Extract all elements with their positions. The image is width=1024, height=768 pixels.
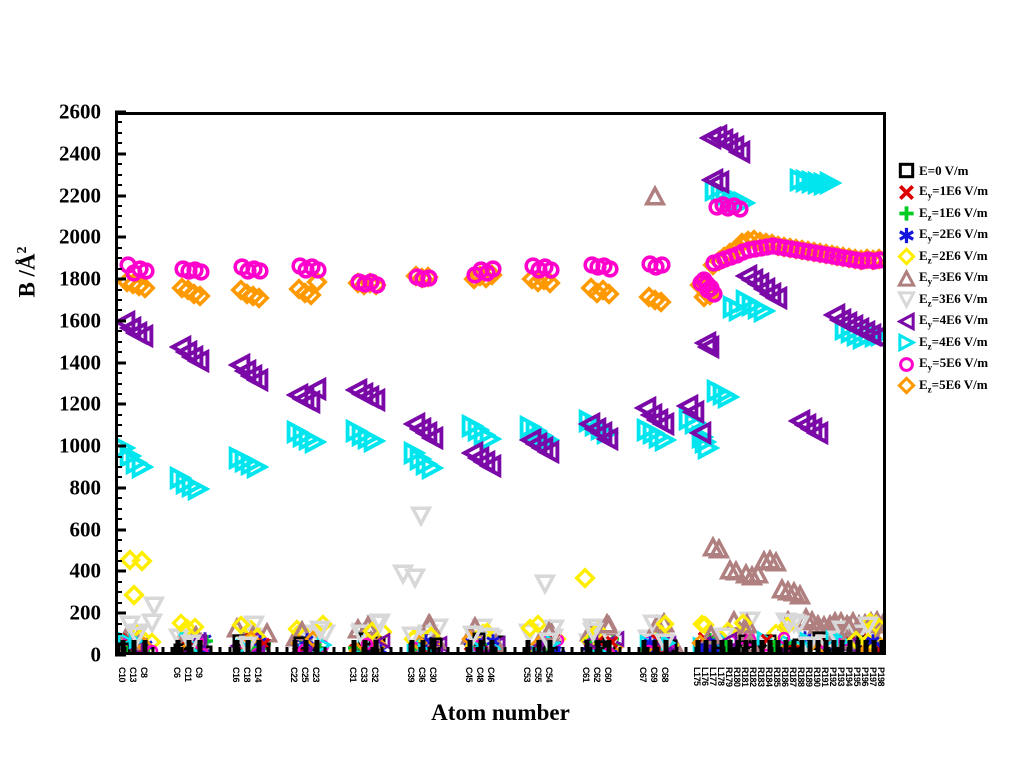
x-tick-minor (865, 647, 868, 655)
x-tick-minor (371, 647, 374, 655)
x-tick-minor (561, 647, 564, 655)
legend-marker-asterisk-icon (893, 226, 919, 245)
x-tick-minor (418, 647, 421, 655)
x-tick-minor (761, 647, 764, 655)
y-tick-minor (115, 560, 122, 562)
data-point (703, 283, 725, 305)
data-point (655, 614, 675, 634)
x-tick-minor (571, 647, 574, 655)
data-point (697, 335, 721, 359)
legend-marker-triangle-down-icon (893, 290, 919, 309)
data-point (421, 426, 445, 450)
y-tick-minor (115, 215, 122, 217)
x-tick-label: P198 (876, 667, 886, 686)
x-tick-minor (599, 647, 602, 655)
x-tick-label: C36 (417, 667, 427, 682)
legend-label: Ez=3E6 V/m (919, 291, 988, 309)
x-tick-minor (190, 647, 193, 655)
data-marker-layer (118, 115, 883, 652)
legend-label: E=0 V/m (919, 163, 968, 179)
data-point (130, 455, 154, 479)
x-tick-minor (827, 647, 830, 655)
data-point (689, 421, 713, 445)
legend-item-9[interactable]: Ey=5E6 V/m (893, 354, 1021, 376)
data-point (728, 140, 752, 164)
x-tick-major (880, 640, 885, 655)
x-tick-label: C18 (242, 667, 252, 682)
y-tick-label: 2400 (0, 141, 101, 166)
x-tick-minor (590, 647, 593, 655)
legend-label: Ez=5E6 V/m (919, 377, 988, 395)
y-tick-major (115, 152, 126, 155)
x-tick-minor (171, 647, 174, 655)
y-tick-minor (115, 581, 122, 583)
x-tick-label: C22 (289, 667, 299, 682)
data-point (307, 259, 329, 281)
data-point (682, 400, 706, 424)
y-tick-minor (115, 476, 122, 478)
x-tick-minor (637, 647, 640, 655)
data-point (598, 283, 620, 305)
x-tick-minor (276, 647, 279, 655)
data-point (599, 258, 621, 280)
legend-marker-cross-icon (893, 183, 919, 202)
y-tick-minor (115, 591, 122, 593)
data-point (131, 550, 153, 572)
x-tick-minor (228, 647, 231, 655)
x-tick-minor (266, 647, 269, 655)
y-tick-minor (115, 518, 122, 520)
data-point (304, 377, 328, 401)
data-point (418, 267, 440, 289)
x-tick-minor (628, 647, 631, 655)
y-tick-label: 1600 (0, 308, 101, 333)
x-tick-minor (513, 647, 516, 655)
x-tick-minor (152, 647, 155, 655)
x-tick-minor (323, 647, 326, 655)
y-tick-minor (115, 132, 122, 134)
legend-label: Ez=2E6 V/m (919, 248, 988, 266)
x-tick-minor (656, 647, 659, 655)
data-point (652, 412, 676, 436)
x-tick-minor (875, 647, 878, 655)
y-tick-minor (115, 247, 122, 249)
data-point (707, 170, 731, 194)
x-tick-minor (694, 647, 697, 655)
x-tick-minor (352, 647, 355, 655)
x-tick-minor (409, 647, 412, 655)
data-point (644, 185, 666, 207)
x-tick-minor (485, 647, 488, 655)
x-tick-label: C16 (231, 667, 241, 682)
x-tick-minor (247, 647, 250, 655)
data-point (187, 349, 211, 373)
x-tick-label: C10 (117, 667, 127, 682)
x-tick-minor (723, 647, 726, 655)
y-tick-minor (115, 508, 122, 510)
x-tick-label: C39 (406, 667, 416, 682)
legend-label: Ey=3E6 V/m (919, 269, 988, 287)
data-point (574, 567, 596, 589)
x-tick-minor (789, 647, 792, 655)
legend-label: Ey=4E6 V/m (919, 312, 988, 330)
y-tick-minor (115, 497, 122, 499)
x-tick-label: C48 (475, 667, 485, 682)
y-tick-label: 400 (0, 559, 101, 584)
x-tick-minor (675, 647, 678, 655)
x-tick-label: C8 (139, 667, 149, 678)
x-tick-major (831, 640, 836, 655)
y-tick-minor (115, 372, 122, 374)
legend-item-5[interactable]: Ey=3E6 V/m (893, 268, 1021, 290)
x-tick-major (489, 640, 494, 655)
x-tick-major (839, 640, 844, 655)
x-tick-label: C13 (128, 667, 138, 682)
legend-label: Ey=5E6 V/m (919, 355, 988, 373)
y-tick-minor (115, 351, 122, 353)
x-tick-minor (285, 647, 288, 655)
y-tick-minor (115, 205, 122, 207)
y-tick-minor (115, 184, 122, 186)
legend-item-3[interactable]: Ey=2E6 V/m (893, 225, 1021, 247)
data-point (245, 455, 269, 479)
data-point (537, 440, 561, 464)
x-tick-minor (713, 647, 716, 655)
x-tick-minor (751, 647, 754, 655)
x-tick-major (735, 640, 740, 655)
legend-label: Ey=1E6 V/m (919, 183, 988, 201)
x-tick-minor (856, 647, 859, 655)
data-point (692, 614, 712, 634)
legend-marker-plus-icon (893, 204, 919, 223)
x-tick-label: C67 (638, 667, 648, 682)
data-point (482, 258, 504, 280)
x-tick-minor (142, 647, 145, 655)
y-tick-label: 2000 (0, 225, 101, 250)
y-tick-major (115, 319, 126, 322)
x-tick-minor (219, 647, 222, 655)
data-point (362, 429, 386, 453)
x-tick-minor (361, 647, 364, 655)
x-tick-major (783, 640, 788, 655)
data-point (765, 551, 787, 573)
legend-item-2[interactable]: Ez=1E6 V/m (893, 203, 1021, 225)
x-tick-major (421, 640, 426, 655)
chart-root: B /Å2 0200400600800100012001400160018002… (0, 0, 1024, 768)
x-tick-minor (732, 647, 735, 655)
legend-label: Ez=1E6 V/m (919, 205, 988, 223)
y-tick-minor (115, 435, 122, 437)
x-tick-minor (466, 647, 469, 655)
legend-marker-diamond-icon (893, 376, 919, 395)
legend-item-6[interactable]: Ez=3E6 V/m (893, 289, 1021, 311)
data-point (818, 171, 842, 195)
x-tick-minor (238, 647, 241, 655)
y-tick-minor (115, 341, 122, 343)
x-tick-minor (542, 647, 545, 655)
y-tick-label: 800 (0, 475, 101, 500)
y-tick-major (115, 486, 126, 489)
data-point (369, 612, 391, 634)
data-point (186, 477, 210, 501)
data-point (729, 198, 751, 220)
legend-label: Ey=2E6 V/m (919, 226, 988, 244)
x-tick-minor (609, 647, 612, 655)
x-tick-label: C61 (581, 667, 591, 682)
data-point (789, 584, 811, 606)
y-tick-major (115, 278, 126, 281)
y-tick-major (115, 528, 126, 531)
data-point (534, 573, 556, 595)
data-point (135, 260, 157, 282)
x-tick-minor (780, 647, 783, 655)
x-tick-minor (161, 647, 164, 655)
y-tick-minor (115, 466, 122, 468)
data-point (248, 287, 270, 309)
y-tick-minor (115, 142, 122, 144)
y-tick-major (115, 570, 126, 573)
x-tick-minor (808, 647, 811, 655)
data-point (190, 261, 212, 283)
x-tick-label: C11 (183, 667, 193, 682)
data-point (309, 619, 331, 641)
x-tick-minor (437, 647, 440, 655)
x-tick-minor (523, 647, 526, 655)
data-point (246, 368, 270, 392)
legend-item-0[interactable]: E=0 V/m (893, 160, 1021, 182)
x-tick-minor (504, 647, 507, 655)
x-tick-minor (685, 647, 688, 655)
data-point (727, 298, 751, 322)
y-tick-label: 1200 (0, 392, 101, 417)
data-point (765, 286, 789, 310)
x-tick-minor (380, 647, 383, 655)
x-tick-minor (494, 647, 497, 655)
x-tick-minor (456, 647, 459, 655)
x-tick-minor (475, 647, 478, 655)
x-tick-minor (209, 647, 212, 655)
y-tick-minor (115, 456, 122, 458)
y-tick-minor (115, 289, 122, 291)
x-tick-minor (180, 647, 183, 655)
y-tick-label: 0 (0, 643, 101, 668)
x-tick-minor (580, 647, 583, 655)
plot-area (115, 112, 886, 655)
x-tick-label: C46 (486, 667, 496, 682)
x-tick-minor (532, 647, 535, 655)
y-tick-major (115, 111, 126, 114)
x-tick-minor (666, 647, 669, 655)
data-point (708, 538, 730, 560)
data-point (410, 505, 432, 527)
legend-item-7[interactable]: Ey=4E6 V/m (893, 311, 1021, 333)
y-tick-minor (115, 393, 122, 395)
y-tick-minor (115, 226, 122, 228)
legend-item-8[interactable]: Ez=4E6 V/m (893, 332, 1021, 354)
x-tick-label: C62 (592, 667, 602, 682)
y-tick-minor (115, 424, 122, 426)
data-point (520, 618, 540, 638)
y-tick-label: 2600 (0, 100, 101, 125)
x-tick-minor (846, 647, 849, 655)
x-tick-label: C68 (660, 667, 670, 682)
chart-legend: E=0 V/mEy=1E6 V/mEz=1E6 V/mEy=2E6 V/mEz=… (893, 160, 1021, 397)
y-tick-label: 1400 (0, 350, 101, 375)
data-point (650, 291, 672, 313)
data-point (778, 612, 800, 634)
x-tick-minor (428, 647, 431, 655)
x-tick-label: C54 (544, 667, 554, 682)
data-point (303, 430, 327, 454)
x-tick-major (526, 640, 531, 655)
legend-marker-triangle-up-icon (893, 269, 919, 288)
legend-marker-triangle-right-icon (893, 333, 919, 352)
data-point (363, 388, 387, 412)
x-tick-minor (552, 647, 555, 655)
x-tick-minor (314, 647, 317, 655)
x-tick-minor (200, 647, 203, 655)
x-tick-label: C69 (649, 667, 659, 682)
x-tick-minor (257, 647, 260, 655)
legend-item-10[interactable]: Ez=5E6 V/m (893, 375, 1021, 397)
x-tick-minor (390, 647, 393, 655)
x-tick-label: C60 (603, 667, 613, 682)
x-tick-label: C6 (172, 667, 182, 678)
data-point (404, 567, 426, 589)
x-tick-minor (399, 647, 402, 655)
y-tick-label: 1800 (0, 267, 101, 292)
y-tick-label: 600 (0, 517, 101, 542)
y-tick-major (115, 612, 126, 615)
y-tick-label: 1000 (0, 434, 101, 459)
legend-label: Ez=4E6 V/m (919, 334, 988, 352)
legend-item-1[interactable]: Ey=1E6 V/m (893, 182, 1021, 204)
legend-marker-diamond-icon (893, 247, 919, 266)
y-tick-minor (115, 163, 122, 165)
x-tick-minor (799, 647, 802, 655)
data-point (123, 584, 145, 606)
y-tick-minor (115, 414, 122, 416)
x-tick-minor (295, 647, 298, 655)
x-tick-major (478, 640, 483, 655)
data-point (596, 427, 620, 451)
x-tick-minor (742, 647, 745, 655)
data-point (869, 249, 883, 271)
legend-marker-triangle-left-icon (893, 312, 919, 331)
y-tick-minor (115, 330, 122, 332)
x-tick-label: C33 (359, 667, 369, 682)
data-point (131, 324, 155, 348)
x-tick-label: C45 (464, 667, 474, 682)
y-tick-minor (115, 268, 122, 270)
data-point (420, 456, 444, 480)
legend-item-4[interactable]: Ez=2E6 V/m (893, 246, 1021, 268)
x-tick-minor (447, 647, 450, 655)
data-point (189, 285, 211, 307)
y-tick-minor (115, 383, 122, 385)
x-tick-label: C25 (300, 667, 310, 682)
x-tick-label: C23 (311, 667, 321, 682)
data-point (806, 421, 830, 445)
y-tick-major (115, 194, 126, 197)
y-tick-minor (115, 257, 122, 259)
y-tick-minor (115, 299, 122, 301)
y-tick-minor (115, 602, 122, 604)
x-tick-minor (647, 647, 650, 655)
data-point (479, 454, 503, 478)
data-point (865, 325, 883, 349)
legend-marker-square-icon (893, 161, 919, 180)
x-tick-minor (818, 647, 821, 655)
data-point (366, 274, 388, 296)
x-tick-minor (133, 647, 136, 655)
x-tick-minor (123, 647, 126, 655)
legend-marker-circle-icon (893, 355, 919, 374)
x-tick-major (584, 640, 589, 655)
x-tick-minor (304, 647, 307, 655)
data-point (249, 260, 271, 282)
x-tick-major (373, 640, 378, 655)
y-tick-label: 2200 (0, 183, 101, 208)
y-tick-minor (115, 633, 122, 635)
y-tick-major (115, 236, 126, 239)
data-point (716, 385, 740, 409)
x-tick-minor (704, 647, 707, 655)
data-point (540, 259, 562, 281)
x-tick-minor (837, 647, 840, 655)
y-tick-minor (115, 309, 122, 311)
y-tick-minor (115, 550, 122, 552)
x-tick-label: C9 (194, 667, 204, 678)
x-tick-label: C31 (348, 667, 358, 682)
x-tick-label: C53 (522, 667, 532, 682)
y-tick-label: 200 (0, 601, 101, 626)
y-tick-minor (115, 539, 122, 541)
x-axis-title: Atom number (115, 700, 886, 726)
x-tick-label: C30 (428, 667, 438, 682)
x-tick-label: C32 (370, 667, 380, 682)
y-tick-minor (115, 623, 122, 625)
x-tick-major (537, 640, 542, 655)
data-point (651, 254, 673, 276)
y-tick-minor (115, 174, 122, 176)
x-tick-label: C14 (253, 667, 263, 682)
x-tick-minor (333, 647, 336, 655)
x-tick-label: C55 (533, 667, 543, 682)
y-tick-minor (115, 121, 122, 123)
y-tick-major (115, 361, 126, 364)
y-tick-major (115, 445, 126, 448)
y-tick-major (115, 403, 126, 406)
x-tick-minor (342, 647, 345, 655)
x-tick-minor (770, 647, 773, 655)
x-tick-minor (618, 647, 621, 655)
x-tick-major (432, 640, 437, 655)
